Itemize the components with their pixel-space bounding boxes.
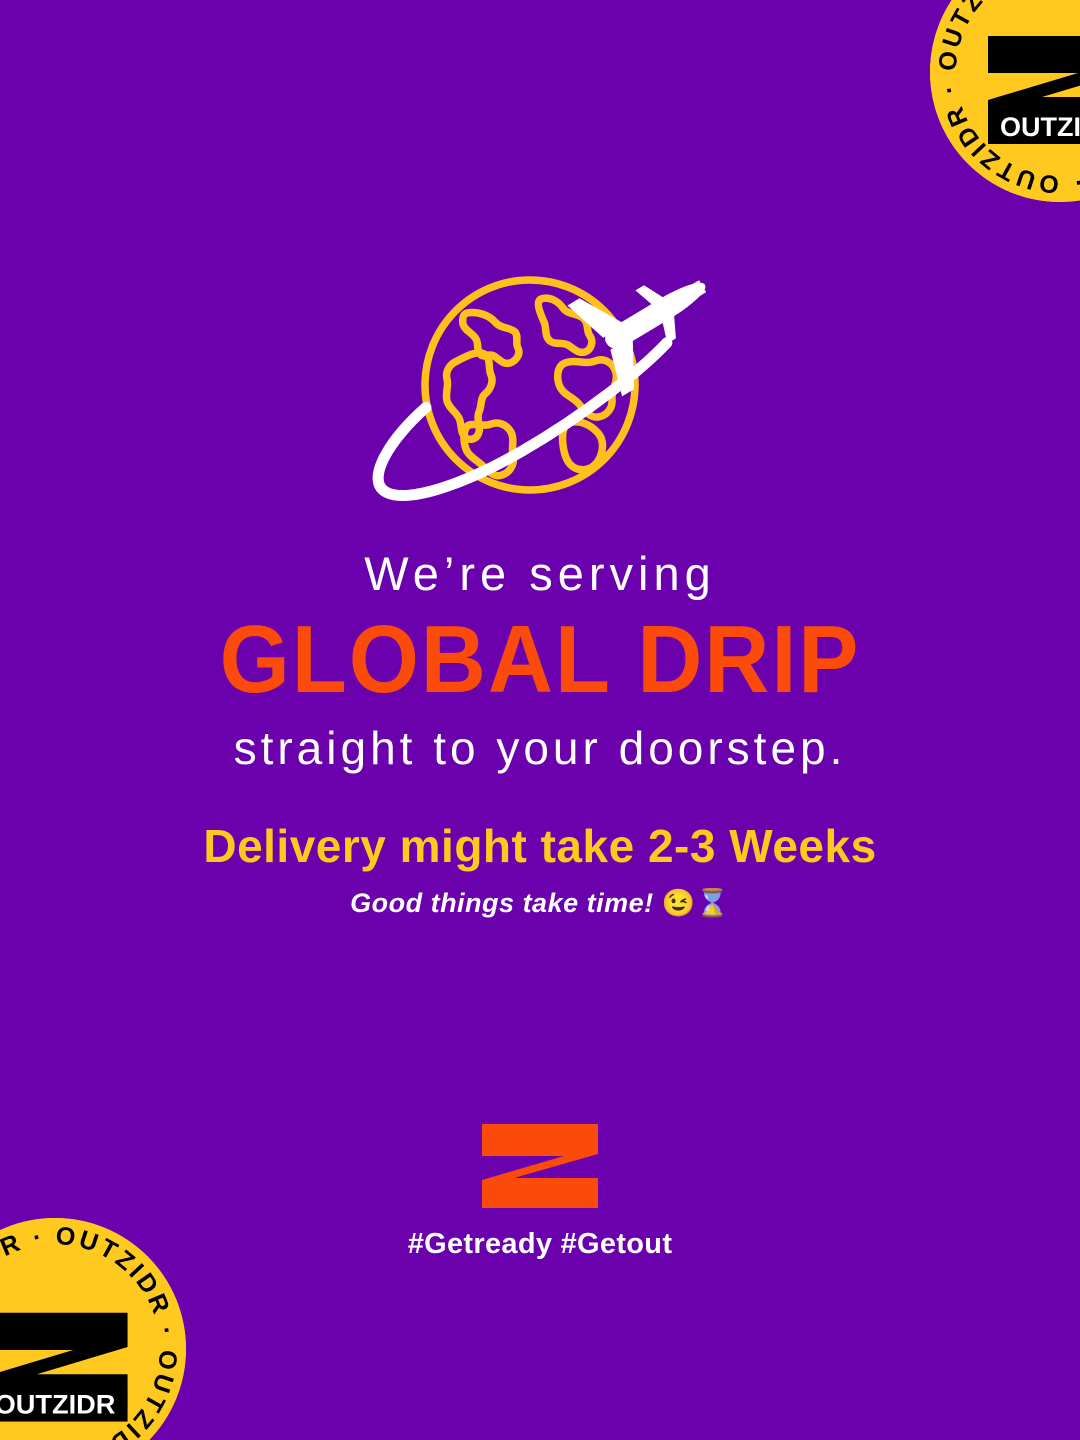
headline-line-3: straight to your doorstep. [0, 723, 1080, 774]
delivery-block: Delivery might take 2-3 Weeks Good thing… [0, 820, 1080, 919]
headline-block: We’re serving GLOBAL DRIP straight to yo… [0, 548, 1080, 774]
winking-face-icon: 😉 [662, 888, 696, 918]
badge-center-wordmark: OUTZIDR [0, 1388, 116, 1419]
headline-line-1: We’re serving [0, 548, 1080, 600]
headline-line-2: GLOBAL DRIP [32, 606, 1047, 714]
hourglass-icon: ⌛ [696, 888, 730, 918]
delivery-time-text: Delivery might take 2-3 Weeks [0, 820, 1080, 873]
poster-canvas: We’re serving GLOBAL DRIP straight to yo… [0, 0, 1080, 1440]
outzidr-badge-top-right: OUTZIDR · OUTZIDR · OUTZIDR · OUTZIDR · … [930, 0, 1080, 202]
globe-airplane-illustration [355, 275, 725, 510]
delivery-subtext: Good things take time! 😉⌛ [0, 887, 1080, 919]
badge-center-wordmark: OUTZIDR [1000, 112, 1080, 142]
outzidr-z-logo [478, 1122, 602, 1210]
delivery-subtext-label: Good things take time! [350, 888, 654, 918]
outzidr-badge-bottom-left: OUTZIDR · OUTZIDR · OUTZIDR · OUTZIDR · … [0, 1218, 186, 1440]
